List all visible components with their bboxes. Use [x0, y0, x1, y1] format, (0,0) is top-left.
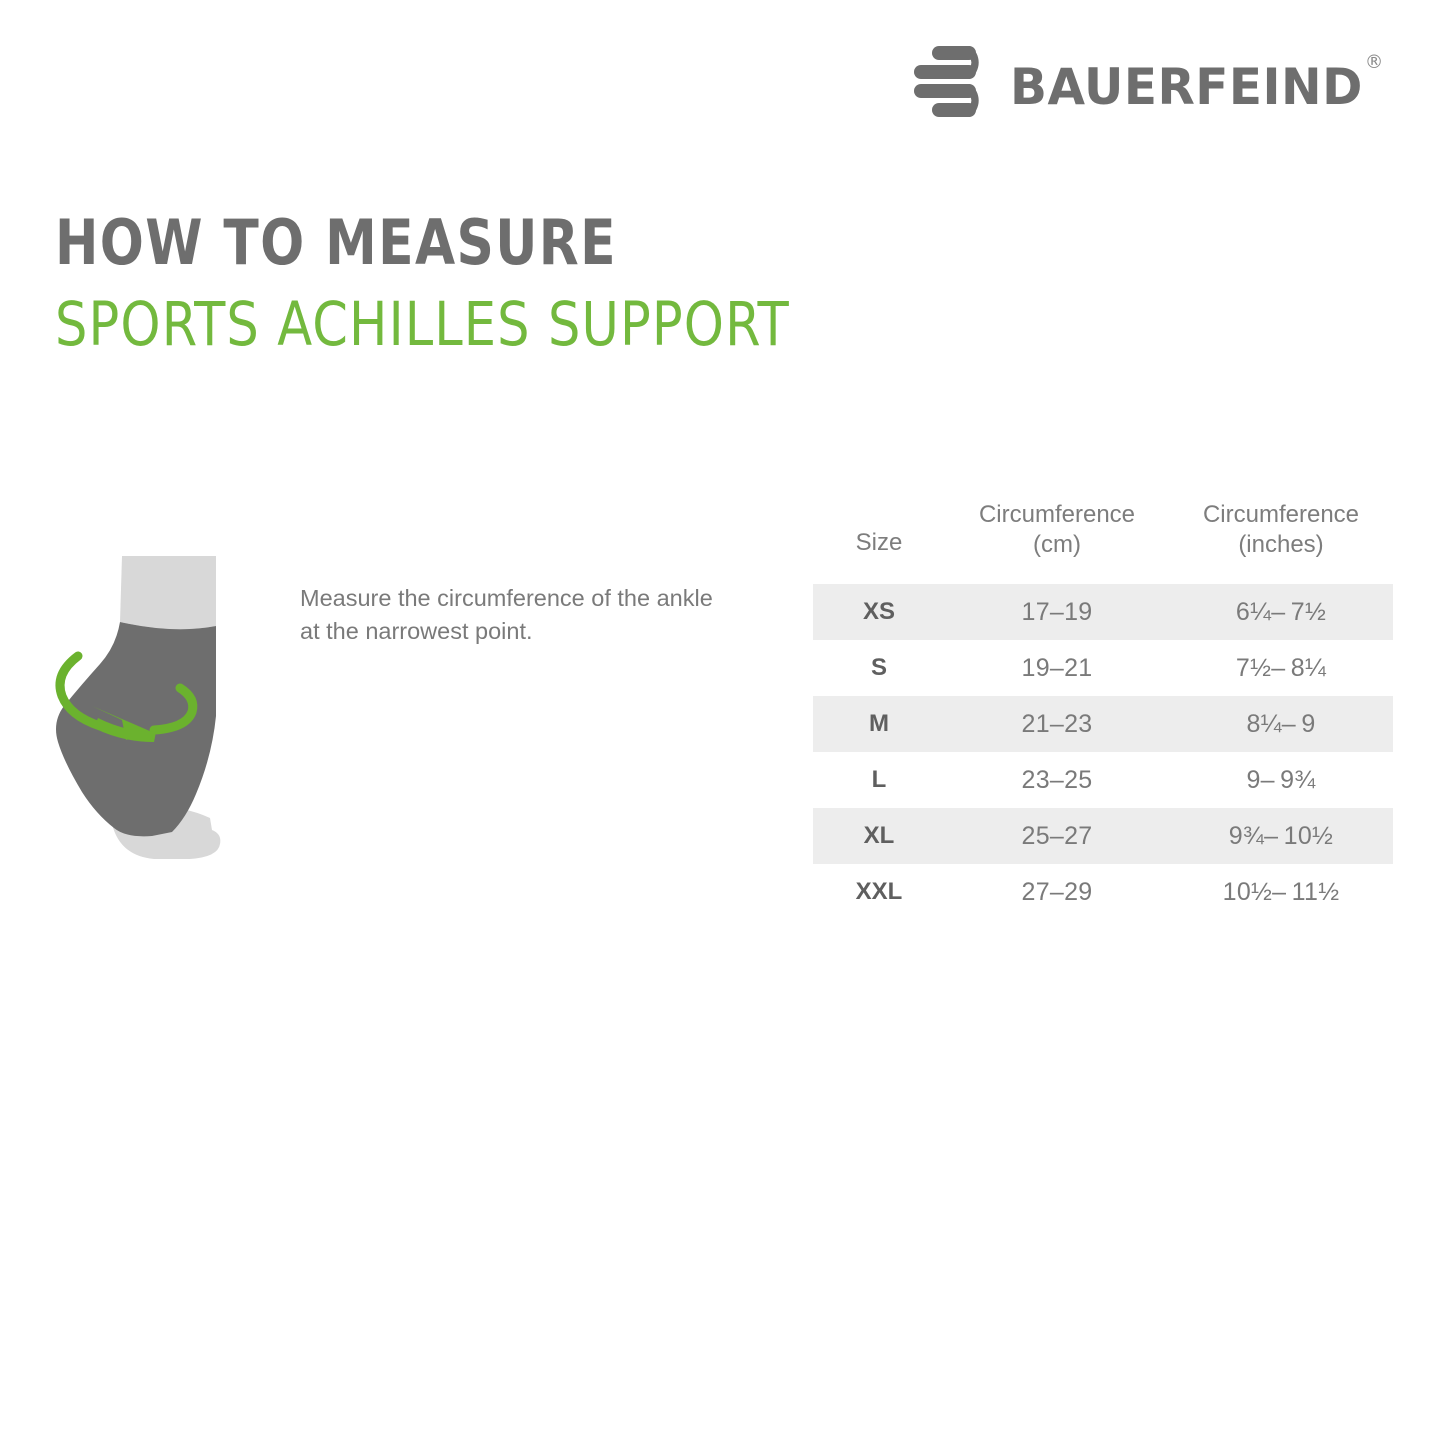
table-row: L 23–25 9– 9¾ — [813, 752, 1393, 808]
cell-circumference-cm: 19–21 — [945, 640, 1169, 696]
cell-circumference-inches: 8¼– 9 — [1169, 696, 1393, 752]
cell-size: XXL — [813, 864, 945, 920]
leg-upper-shape — [120, 556, 216, 629]
page-subtitle: SPORTS ACHILLES SUPPORT — [55, 294, 790, 355]
cell-circumference-cm: 27–29 — [945, 864, 1169, 920]
cell-size: S — [813, 640, 945, 696]
column-header-inches-line1: Circumference — [1203, 501, 1359, 528]
cell-circumference-inches: 6¼– 7½ — [1169, 584, 1393, 640]
table-row: XXL 27–29 10½– 11½ — [813, 864, 1393, 920]
cell-circumference-inches: 7½– 8¼ — [1169, 640, 1393, 696]
cell-size: XS — [813, 584, 945, 640]
table-row: M 21–23 8¼– 9 — [813, 696, 1393, 752]
column-header-cm-line1: Circumference — [979, 501, 1135, 528]
cell-circumference-cm: 21–23 — [945, 696, 1169, 752]
size-chart-table: Size Circumference (cm) Circumference (i… — [813, 500, 1393, 920]
table-header-row: Size Circumference (cm) Circumference (i… — [813, 500, 1393, 584]
size-chart-header: Size Circumference (cm) Circumference (i… — [813, 500, 1393, 584]
ankle-measurement-diagram — [34, 556, 264, 886]
page-title: HOW TO MEASURE — [55, 212, 790, 274]
cell-circumference-inches: 10½– 11½ — [1169, 864, 1393, 920]
size-chart-body: XS 17–19 6¼– 7½ S 19–21 7½– 8¼ M 21–23 8… — [813, 584, 1393, 920]
brand-wordmark: BAUERFEIND® — [1010, 62, 1382, 112]
cell-circumference-inches: 9– 9¾ — [1169, 752, 1393, 808]
cell-circumference-cm: 17–19 — [945, 584, 1169, 640]
table-row: XS 17–19 6¼– 7½ — [813, 584, 1393, 640]
table-row: S 19–21 7½– 8¼ — [813, 640, 1393, 696]
column-header-inches-line2: (inches) — [1238, 531, 1323, 558]
page-heading-block: HOW TO MEASURE SPORTS ACHILLES SUPPORT — [55, 212, 845, 355]
column-header-cm-line2: (cm) — [1033, 531, 1081, 558]
bauerfeind-b-mark-icon — [914, 44, 996, 129]
registered-trademark-icon: ® — [1365, 51, 1384, 73]
cell-circumference-cm: 25–27 — [945, 808, 1169, 864]
cell-size: XL — [813, 808, 945, 864]
table-row: XL 25–27 9¾– 10½ — [813, 808, 1393, 864]
cell-size: M — [813, 696, 945, 752]
column-header-circumference-inches: Circumference (inches) — [1169, 500, 1393, 584]
column-header-size: Size — [813, 500, 945, 584]
measurement-instruction: Measure the circumference of the ankle a… — [300, 582, 730, 649]
brand-logo: BAUERFEIND® — [914, 44, 1393, 129]
cell-circumference-inches: 9¾– 10½ — [1169, 808, 1393, 864]
column-header-circumference-cm: Circumference (cm) — [945, 500, 1169, 584]
cell-circumference-cm: 23–25 — [945, 752, 1169, 808]
brand-wordmark-text: BAUERFEIND — [1010, 58, 1363, 116]
cell-size: L — [813, 752, 945, 808]
